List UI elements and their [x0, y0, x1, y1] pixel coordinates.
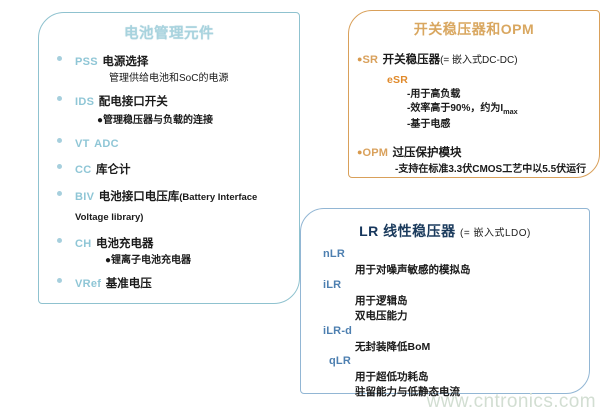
linear-group-list: nLR 用于对噪声敏感的模拟岛 iLR 用于逻辑岛 双电压能力 iLR-d 无封…: [301, 247, 589, 400]
battery-management-panel: 电池管理元件 PSS 电源选择 管理供给电池和SoC的电源 IDS 配电接口开关…: [38, 12, 300, 304]
group-ilr: iLR 用于逻辑岛 双电压能力: [323, 278, 589, 324]
dash-line-2-subscript: max: [503, 107, 518, 116]
linear-regulator-panel: LR 线性稳压器 (= 嵌入式LDO) nLR 用于对噪声敏感的模拟岛 iLR …: [300, 208, 590, 394]
component-sub: 管理供给电池和SoC的电源: [109, 72, 293, 85]
bullet-dot-icon: [57, 164, 62, 169]
list-item-vt-adc: VT ADC: [49, 133, 293, 153]
switching-entry-list: ●SR 开关稳压器(= 嵌入式DC-DC) eSR -用于高负载 -效率高于90…: [349, 48, 599, 176]
component-name: ADC: [94, 138, 119, 150]
entry-opm: ●OPM 过压保护模块: [357, 141, 593, 162]
component-name: 基准电压: [106, 278, 152, 290]
abbr-label: VRef: [75, 278, 101, 290]
list-item-pss: PSS 电源选择 管理供给电池和SoC的电源: [49, 51, 293, 85]
component-sub: ●锂离子电池充电器: [105, 254, 293, 267]
group-nlr: nLR 用于对噪声敏感的模拟岛: [323, 247, 589, 278]
switching-regulator-panel: 开关稳压器和OPM ●SR 开关稳压器(= 嵌入式DC-DC) eSR -用于高…: [348, 10, 600, 178]
dash-line-2: -效率高于90%，约为Imax: [407, 102, 593, 117]
linear-title-paren: (= 嵌入式LDO): [460, 228, 531, 239]
component-name: 电池充电器: [96, 238, 154, 250]
group-abbr: iLR: [323, 278, 589, 294]
dash-line-1: -用于高负载: [407, 88, 593, 102]
sub-abbr-label: eSR: [387, 74, 408, 86]
dash-line-2-text: -效率高于90%，约为I: [407, 103, 503, 114]
abbr-label: VT: [75, 138, 90, 150]
group-line: 用于超低功耗岛: [355, 370, 589, 385]
abbr-label: SR: [362, 54, 378, 66]
group-line: 用于对噪声敏感的模拟岛: [355, 263, 589, 278]
bullet-dot-icon: [57, 238, 62, 243]
abbr-label: OPM: [362, 147, 388, 159]
component-name: 库仑计: [96, 164, 131, 176]
battery-component-list: PSS 电源选择 管理供给电池和SoC的电源 IDS 配电接口开关 ●管理稳压器…: [39, 51, 299, 294]
list-item-ids: IDS 配电接口开关 ●管理稳压器与负载的连接: [49, 91, 293, 126]
list-item-cc: CC 库仑计: [49, 159, 293, 179]
abbr-label: CC: [75, 164, 92, 176]
component-name: 配电接口开关: [99, 96, 168, 108]
battery-panel-title: 电池管理元件: [39, 22, 299, 43]
bullet-dot-icon: [57, 138, 62, 143]
group-line: 双电压能力: [355, 309, 589, 324]
group-abbr: qLR: [329, 354, 589, 370]
list-item-vref: VRef 基准电压: [49, 273, 293, 293]
entry-name: 过压保护模块: [393, 147, 462, 159]
abbr-label: PSS: [75, 56, 98, 68]
linear-title-name: 线性稳压器: [383, 223, 456, 239]
group-abbr: nLR: [323, 247, 589, 263]
site-watermark: www.cntronics.com: [427, 391, 596, 413]
sub-abbr-esr-row: eSR: [387, 70, 593, 88]
abbr-label: CH: [75, 238, 92, 250]
bullet-dot-icon: [57, 191, 62, 196]
abbr-label: IDS: [75, 96, 94, 108]
bullet-dot-icon: [57, 96, 62, 101]
spacer: [357, 132, 593, 141]
linear-panel-title: LR 线性稳压器 (= 嵌入式LDO): [301, 221, 589, 241]
opm-dash-line: -支持在标准3.3伏CMOS工艺中以5.5伏运行: [395, 163, 593, 177]
switching-panel-title: 开关稳压器和OPM: [349, 19, 599, 39]
group-line: 用于逻辑岛: [355, 294, 589, 309]
bullet-dot-icon: [57, 278, 62, 283]
component-name: 电池接口电压库: [99, 191, 180, 203]
entry-sr: ●SR 开关稳压器(= 嵌入式DC-DC): [357, 48, 593, 69]
bullet-dot-icon: [57, 56, 62, 61]
component-name: 电源选择: [102, 56, 148, 68]
group-line: 无封装降低BoM: [355, 340, 589, 355]
group-abbr: iLR-d: [323, 324, 589, 340]
list-item-biv: BIV 电池接口电压库(Battery Interface Voltage li…: [49, 186, 293, 227]
dash-line-3: -基于电感: [407, 118, 593, 132]
group-ilr-d: iLR-d 无封装降低BoM: [323, 324, 589, 355]
entry-name: 开关稳压器: [383, 54, 441, 66]
component-sub: ●管理稳压器与负载的连接: [97, 114, 293, 127]
abbr-label: BIV: [75, 191, 94, 203]
list-item-ch: CH 电池充电器 ●锂离子电池充电器: [49, 233, 293, 267]
linear-title-abbr: LR: [359, 223, 379, 239]
entry-paren: (= 嵌入式DC-DC): [440, 55, 518, 66]
